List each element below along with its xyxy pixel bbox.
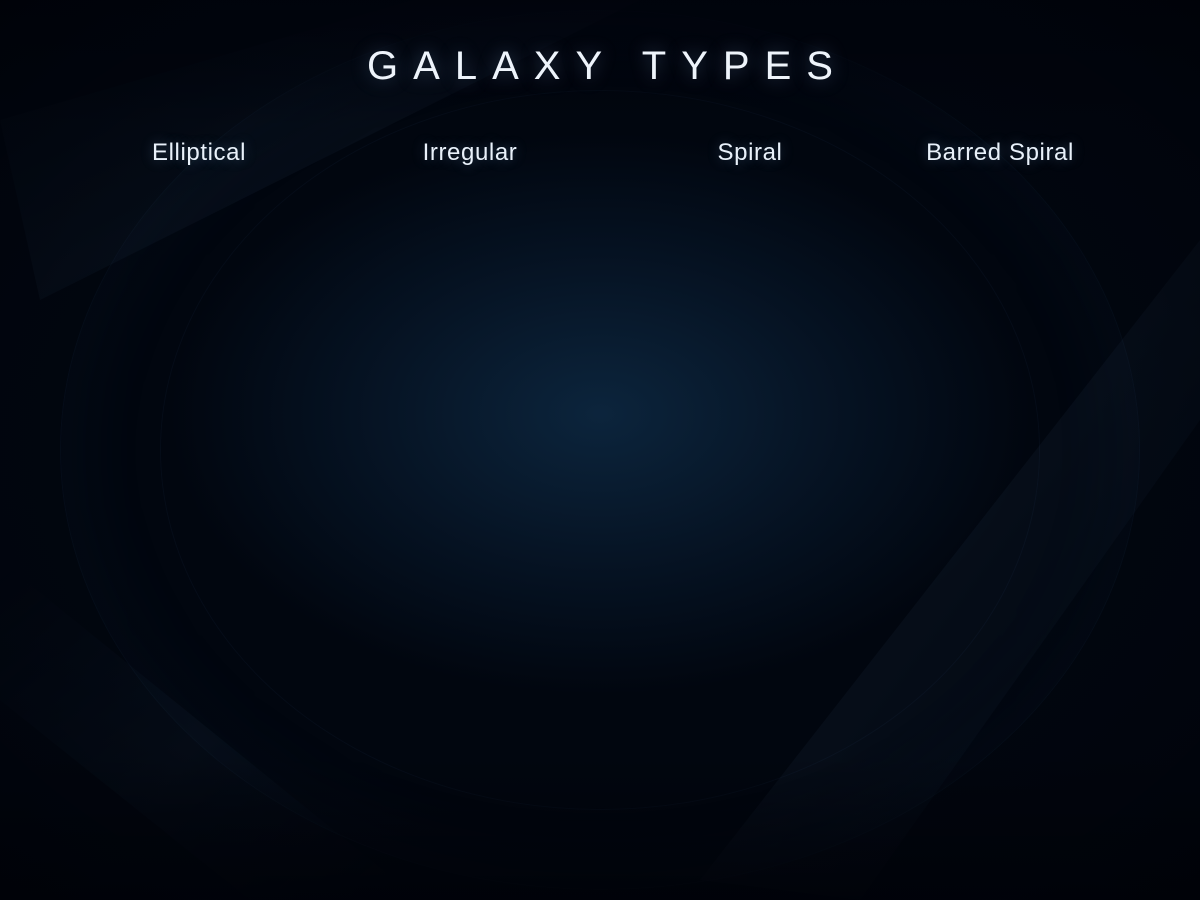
background-vignette [0,0,1200,900]
galaxy-poster: GALAXY TYPES Elliptical Irregular Spiral… [0,0,1200,900]
column-label-text: Barred Spiral [926,139,1074,166]
column-label-text: Elliptical [152,139,246,166]
column-label-text: Irregular [423,139,518,166]
column-label-barred-spiral: Barred Spiral [800,139,1200,167]
column-label-text: Spiral [718,139,783,166]
page-title: GALAXY TYPES [0,44,1200,89]
